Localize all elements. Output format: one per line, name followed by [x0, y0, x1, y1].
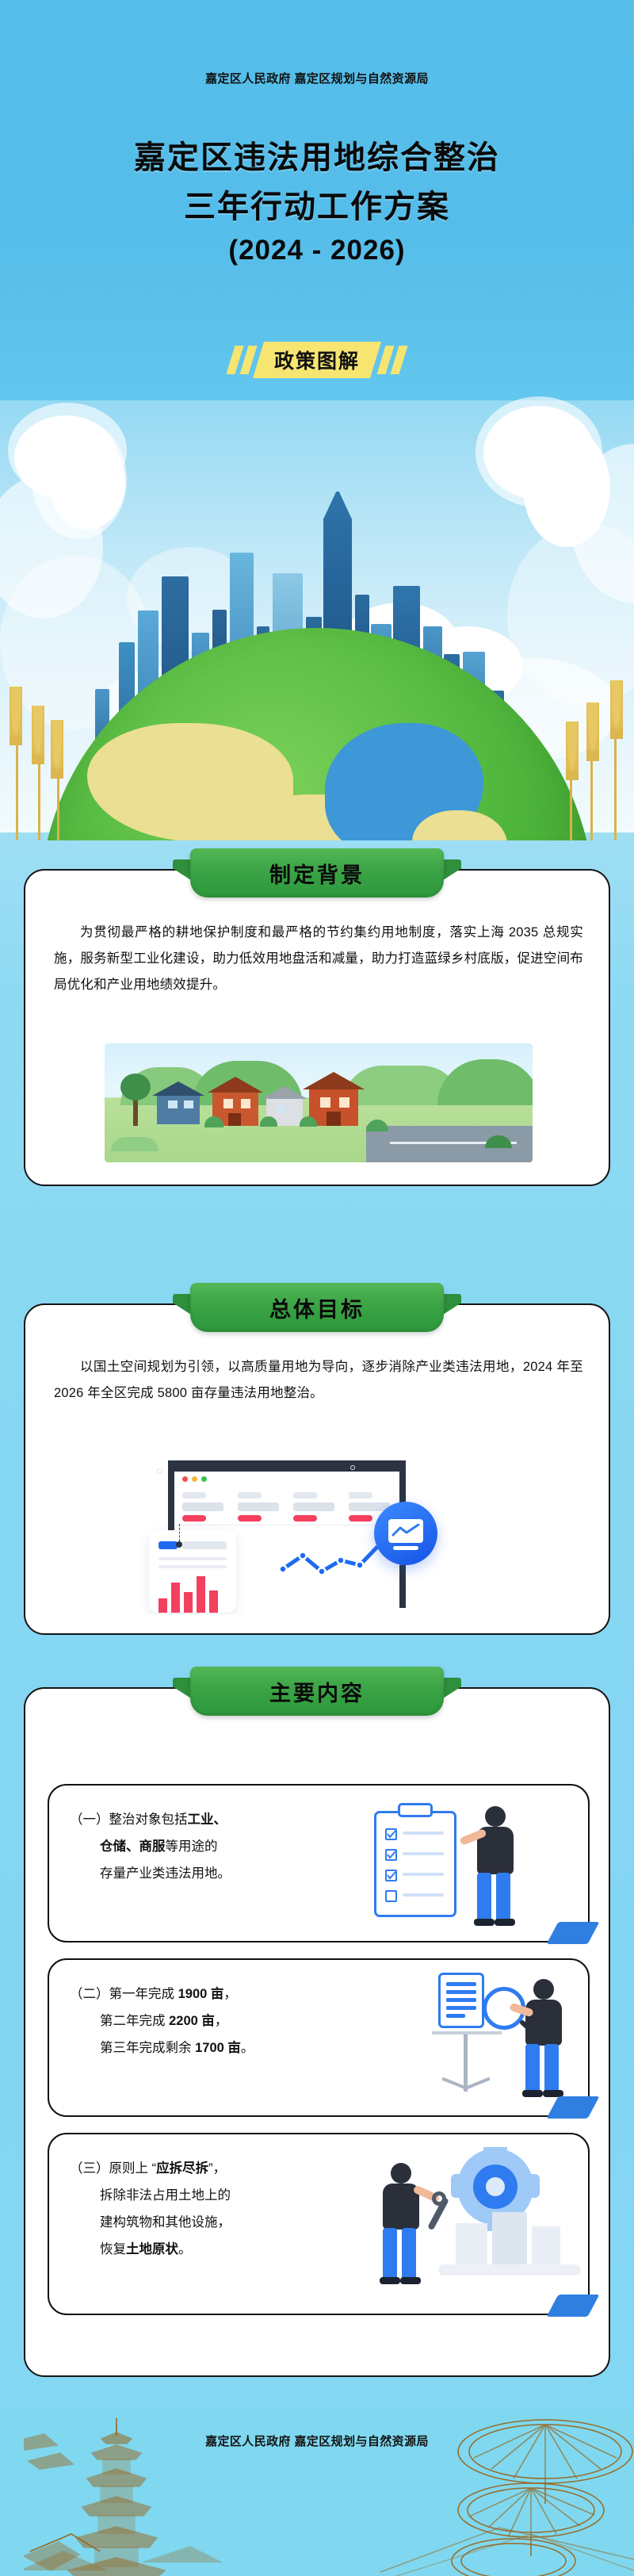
- section-card-background: 为贯彻最严格的耕地保护制度和最严格的节约集约用地制度，落实上海 2035 总规实…: [24, 869, 610, 1186]
- main-item-3-l4-suffix: 。: [178, 2242, 192, 2256]
- main-item-3-l1-suffix: ”，: [208, 2161, 226, 2176]
- main-item-1-l1-bold: 工业、: [188, 1812, 227, 1827]
- section-card-goal: 以国土空间规划为引领，以高质量用地为导向，逐步消除产业类违法用地，2024 年至…: [24, 1303, 610, 1635]
- main-item-1: （一）整治对象包括工业、 仓储、商服等用途的 存量产业类违法用地。: [48, 1784, 590, 1943]
- ribbon-body: 主要内容: [190, 1667, 444, 1716]
- header-gov-line: 嘉定区人民政府 嘉定区规划与自然资源局: [0, 70, 634, 86]
- main-item-3-l1-prefix: 原则上 “: [109, 2161, 157, 2176]
- checklist-person-illustration: [366, 1800, 580, 1931]
- main-item-2-l3-prefix: 第三年完成剩余: [100, 2041, 195, 2055]
- earth-city-illustration: [0, 396, 634, 840]
- chart-badge-icon: [374, 1502, 437, 1565]
- ribbon-body: 总体目标: [190, 1283, 444, 1332]
- policy-illustration-badge: 政策图解: [0, 341, 634, 379]
- main-item-2-text: （二）第一年完成 1900 亩， 第二年完成 2200 亩， 第三年完成剩余 1…: [70, 1981, 331, 2061]
- section-paragraph-background: 为贯彻最严格的耕地保护制度和最严格的节约集约用地制度，落实上海 2035 总规实…: [54, 920, 583, 998]
- main-item-3-index: （三）: [70, 2161, 109, 2176]
- main-item-3-l3: 建构筑物和其他设施，: [70, 2209, 331, 2236]
- main-item-3-l4-prefix: 恢复: [100, 2242, 126, 2256]
- main-item-1-l2-bold: 仓储、商服: [100, 1839, 166, 1854]
- main-item-2-index: （二）: [70, 1987, 109, 2001]
- main-item-3-text: （三）原则上 “应拆尽拆”， 拆除非法占用土地上的 建构筑物和其他设施， 恢复土…: [70, 2155, 331, 2263]
- document-search-person-illustration: [362, 1971, 584, 2107]
- main-item-1-l1-prefix: 整治对象包括: [109, 1812, 188, 1827]
- section-card-main: （一）整治对象包括工业、 仓储、商服等用途的 存量产业类违法用地。: [24, 1687, 610, 2377]
- main-item-2-l1-bold: 1900 亩: [178, 1987, 224, 2001]
- gear-worker-illustration: [362, 2147, 584, 2302]
- page-title-years: (2024 - 2026): [0, 235, 634, 266]
- page-title-line1: 嘉定区违法用地综合整治: [0, 132, 634, 178]
- village-houses-illustration: [105, 1043, 533, 1162]
- main-item-2-l3-suffix: 。: [241, 2041, 254, 2055]
- section-heading-label: 主要内容: [269, 1676, 365, 1707]
- section-heading-background: 制定背景: [190, 848, 444, 898]
- section-heading-label: 总体目标: [269, 1292, 365, 1323]
- section-paragraph-goal: 以国土空间规划为引领，以高质量用地为导向，逐步消除产业类违法用地，2024 年至…: [54, 1354, 583, 1407]
- main-item-2-l3-bold: 1700 亩: [195, 2041, 241, 2055]
- main-item-3-l2: 拆除非法占用土地上的: [70, 2182, 331, 2209]
- main-item-1-text: （一）整治对象包括工业、 仓储、商服等用途的 存量产业类违法用地。: [70, 1806, 331, 1887]
- main-item-2-l1-prefix: 第一年完成: [109, 1987, 178, 2001]
- main-item-3-l1-bold: 应拆尽拆: [156, 2161, 208, 2176]
- main-item-3: （三）原则上 “应拆尽拆”， 拆除非法占用土地上的 建构筑物和其他设施， 恢复土…: [48, 2133, 590, 2315]
- badge-label: 政策图解: [274, 346, 360, 374]
- ribbon-body: 制定背景: [190, 848, 444, 898]
- main-item-2-l2-prefix: 第二年完成: [100, 2014, 169, 2028]
- main-item-1-index: （一）: [70, 1812, 109, 1827]
- dashboard-chart-illustration: [113, 1448, 525, 1614]
- page-title-line2: 三年行动工作方案: [0, 181, 634, 227]
- main-item-1-l3: 存量产业类违法用地。: [70, 1860, 331, 1887]
- main-item-3-l4-bold: 土地原状: [126, 2242, 178, 2256]
- main-item-1-l2-rest: 等用途的: [166, 1839, 218, 1854]
- main-item-2-l2-bold: 2200 亩: [169, 2014, 215, 2028]
- footer-gov-line: 嘉定区人民政府 嘉定区规划与自然资源局: [0, 2432, 634, 2449]
- badge-core: 政策图解: [253, 342, 381, 378]
- section-heading-goal: 总体目标: [190, 1283, 444, 1332]
- main-item-2-l2-suffix: ，: [215, 2014, 228, 2028]
- section-heading-main: 主要内容: [190, 1667, 444, 1716]
- main-item-2-l1-suffix: ，: [223, 1987, 237, 2001]
- infographic-page: 嘉定区人民政府 嘉定区规划与自然资源局 嘉定区违法用地综合整治 三年行动工作方案…: [0, 0, 634, 2576]
- main-item-2: （二）第一年完成 1900 亩， 第二年完成 2200 亩， 第三年完成剩余 1…: [48, 1958, 590, 2117]
- section-heading-label: 制定背景: [269, 858, 365, 889]
